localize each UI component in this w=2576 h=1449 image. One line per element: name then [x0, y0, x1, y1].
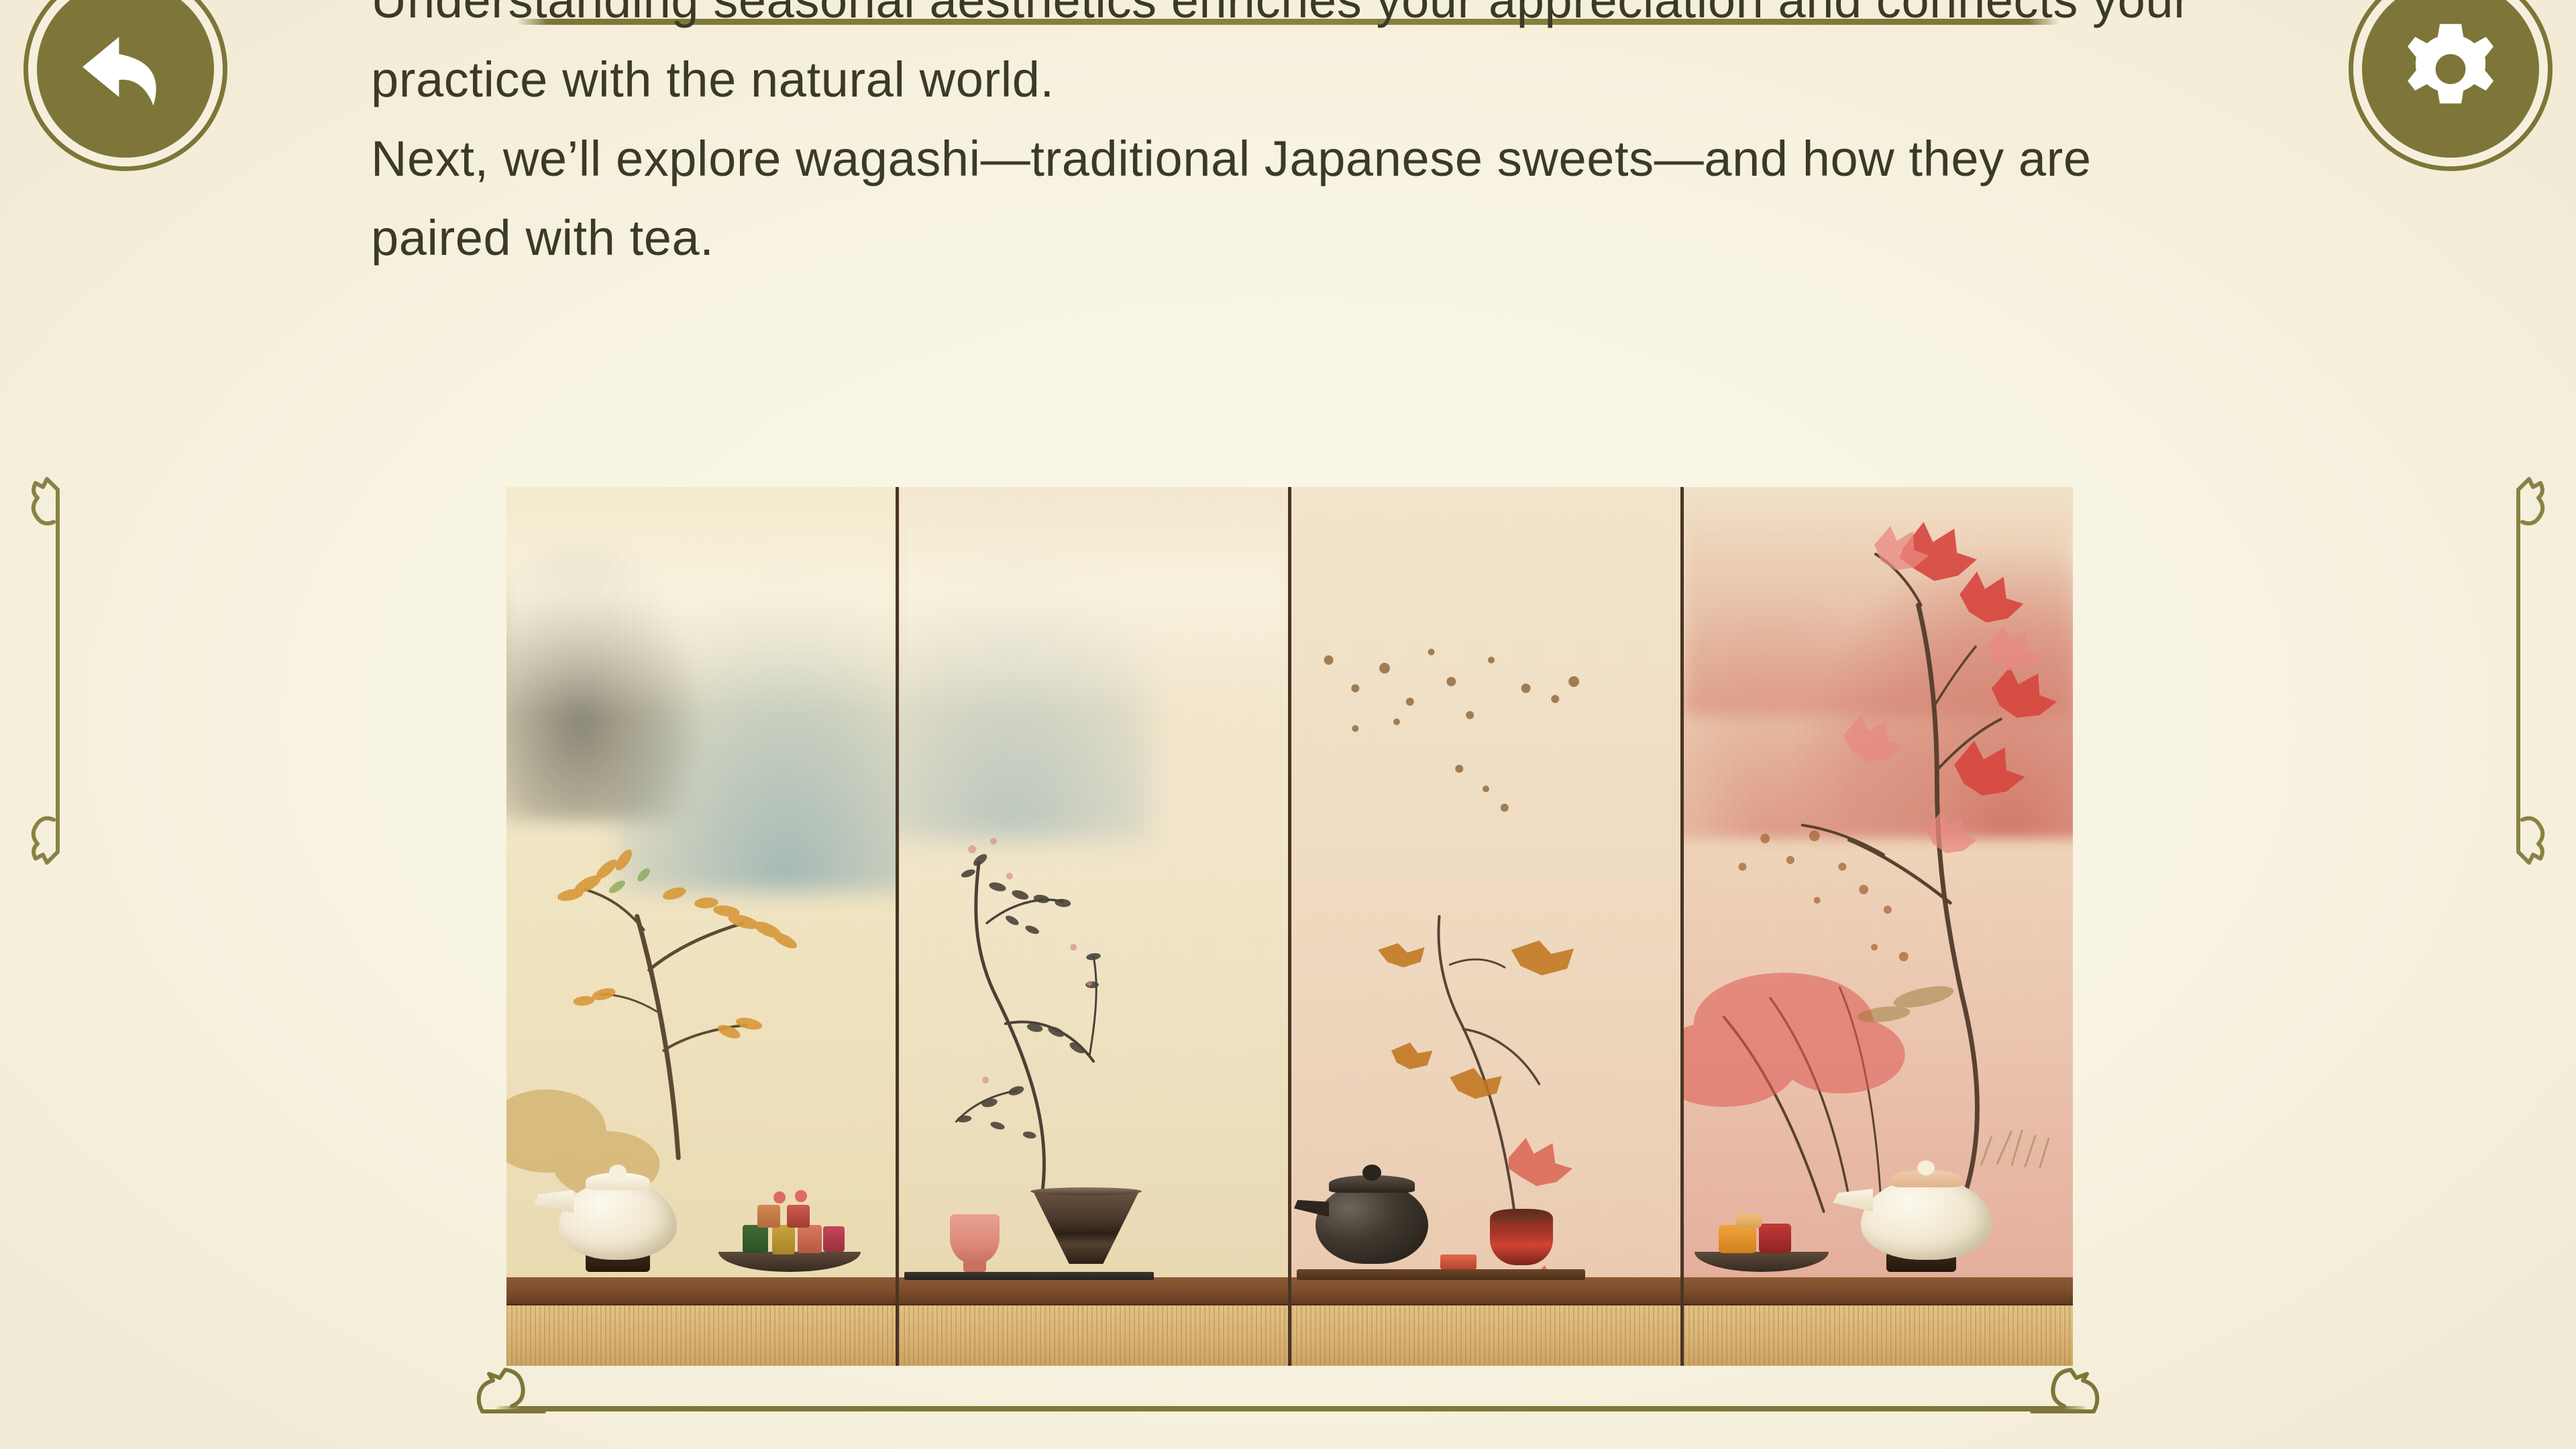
- iron-kettle: [1316, 1183, 1428, 1264]
- screen-panel-1: [506, 487, 899, 1366]
- bottom-right-ornament: [2029, 1362, 2103, 1419]
- lesson-paragraph-1: Understanding seasonal aesthetics enrich…: [371, 0, 2222, 119]
- screen-panel-3: [1291, 487, 1684, 1366]
- lesson-screen: Understanding seasonal aesthetics enrich…: [0, 0, 2576, 1449]
- settings-button[interactable]: [2353, 0, 2548, 166]
- right-ornament-flourish: [2509, 463, 2549, 879]
- bottom-left-ornament: [473, 1362, 547, 1419]
- kettle-tray: [1297, 1269, 1585, 1280]
- gear-icon: [2397, 15, 2504, 123]
- screen-panel-2: [899, 487, 1291, 1366]
- lesson-illustration: [506, 487, 2073, 1366]
- small-sweet-dish: [1440, 1254, 1477, 1269]
- screen-panel-4: [1684, 487, 2073, 1366]
- left-ornament-flourish: [27, 463, 67, 879]
- lesson-paragraph-2: Next, we’ll explore wagashi—traditional …: [371, 119, 2222, 278]
- lesson-text-scroll[interactable]: Understanding seasonal aesthetics enrich…: [371, 0, 2222, 449]
- tea-tray: [904, 1272, 1154, 1280]
- pink-teacup: [950, 1214, 1000, 1264]
- back-arrow-icon: [72, 15, 179, 123]
- back-button[interactable]: [28, 0, 223, 166]
- bottom-divider-rule: [496, 1406, 2086, 1411]
